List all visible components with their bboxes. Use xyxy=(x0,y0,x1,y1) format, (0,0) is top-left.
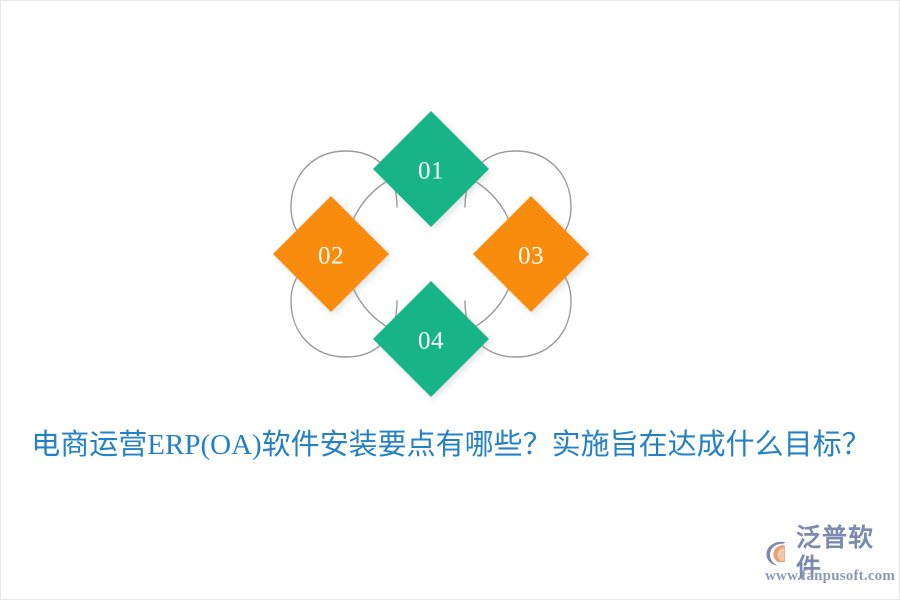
four-node-diamond-diagram: 01 02 03 04 xyxy=(251,89,611,419)
brand-url: www.fanpusoft.com xyxy=(763,568,893,585)
caption-text: 电商运营ERP(OA)软件安装要点有哪些？实施旨在达成什么目标？ xyxy=(1,425,900,465)
page-root: 01 02 03 04 电商运营ERP(OA)软件安装要点有哪些？实施旨在达成什… xyxy=(0,0,900,600)
fanpu-logo-icon xyxy=(763,538,793,568)
node-03-label: 03 xyxy=(518,243,544,270)
brand-watermark: 泛普软件 www.fanpusoft.com xyxy=(763,537,893,587)
node-02-label: 02 xyxy=(318,243,344,270)
diagram-container: 01 02 03 04 xyxy=(251,89,611,419)
brand-row: 泛普软件 xyxy=(763,537,893,569)
node-04-label: 04 xyxy=(418,328,444,355)
node-01-label: 01 xyxy=(418,158,444,185)
